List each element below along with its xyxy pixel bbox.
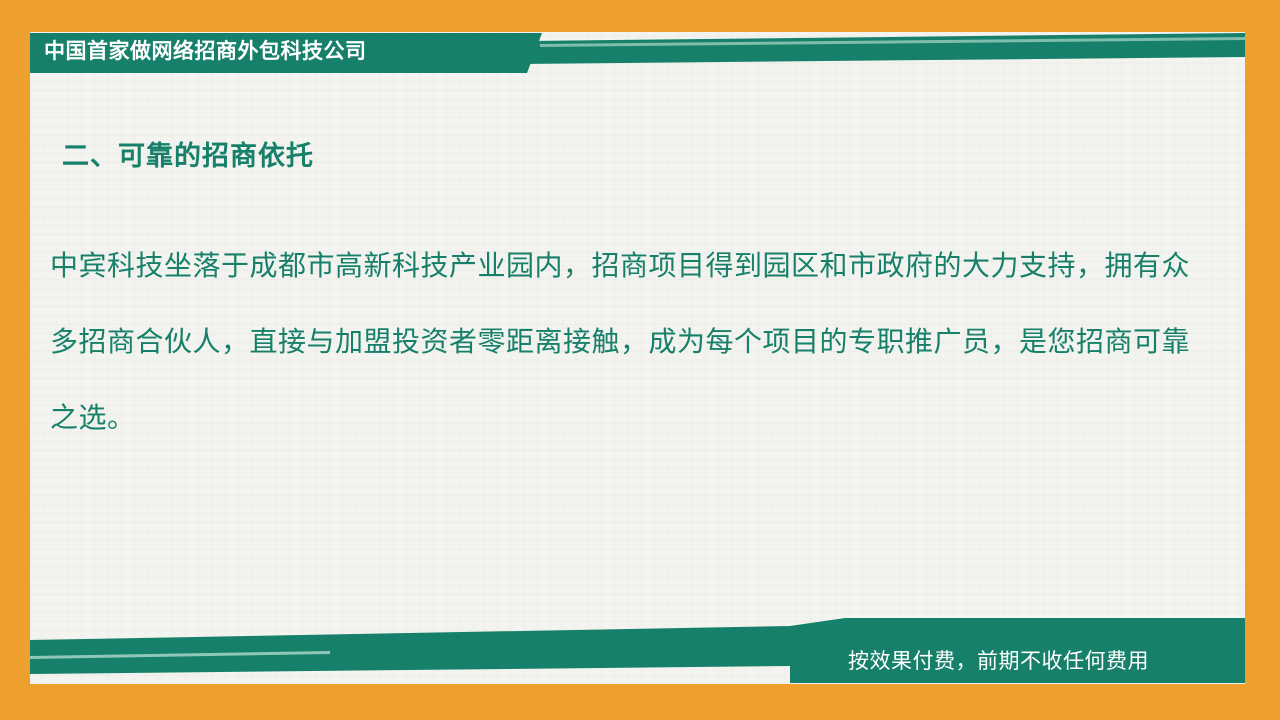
- body-paragraph: 中宾科技坐落于成都市高新科技产业园内，招商项目得到园区和市政府的大力支持，拥有众…: [50, 228, 1190, 456]
- header-title: 中国首家做网络招商外包科技公司: [44, 38, 367, 66]
- footer-tagline: 按效果付费，前期不收任何费用: [848, 648, 1149, 676]
- page-title: 二、可靠的招商依托: [62, 137, 314, 175]
- slide-root: 中国首家做网络招商外包科技公司 二、可靠的招商依托 中宾科技坐落于成都市高新科技…: [0, 0, 1280, 720]
